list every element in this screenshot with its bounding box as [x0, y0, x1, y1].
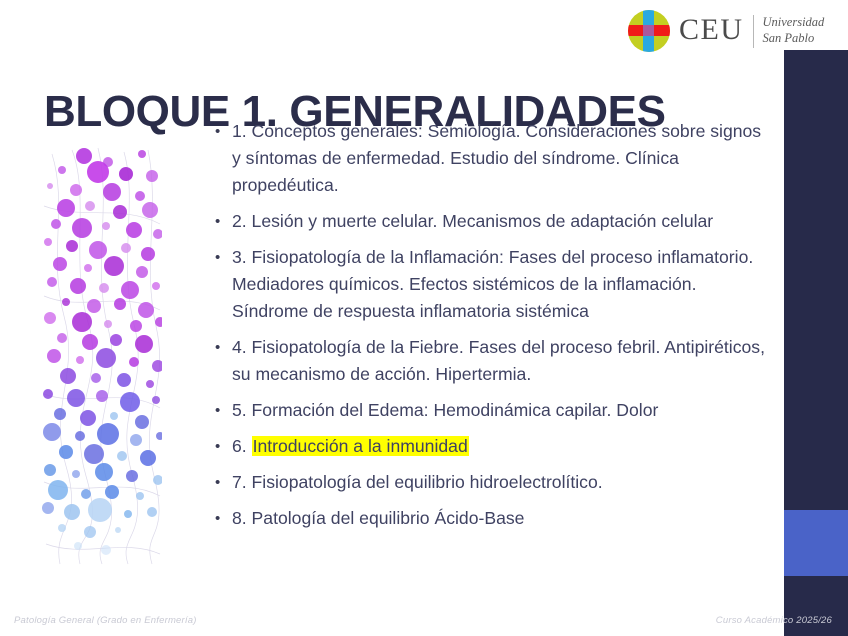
- bullet-point-icon: •: [210, 397, 232, 424]
- list-item: • 8. Patología del equilibrio Ácido-Base: [210, 505, 766, 532]
- right-sidebar-accent-block: [784, 510, 848, 576]
- bullet-point-icon: •: [210, 244, 232, 271]
- logo-subtext-line-2: San Pablo: [763, 31, 825, 47]
- bullet-point-icon: •: [210, 505, 232, 532]
- list-item: • 4. Fisiopatología de la Fiebre. Fases …: [210, 334, 766, 388]
- list-item: • 3. Fisiopatología de la Inflamación: F…: [210, 244, 766, 325]
- list-item: • 7. Fisiopatología del equilibrio hidro…: [210, 469, 766, 496]
- bullet-point-icon: •: [210, 433, 232, 460]
- list-item-text: 4. Fisiopatología de la Fiebre. Fases de…: [232, 334, 766, 388]
- list-item: • 2. Lesión y muerte celular. Mecanismos…: [210, 208, 766, 235]
- logo-divider: [753, 15, 754, 48]
- footer-academic-year: Curso Académico 2025/26: [716, 615, 832, 626]
- list-item: • 5. Formación del Edema: Hemodinámica c…: [210, 397, 766, 424]
- agenda-bullet-list: • 1. Conceptos generales: Semiología. Co…: [210, 118, 766, 541]
- highlighted-text: Introducción a la inmunidad: [252, 436, 469, 456]
- list-item-text: 7. Fisiopatología del equilibrio hidroel…: [232, 469, 766, 496]
- list-item-text: 6. Introducción a la inmunidad: [232, 433, 766, 460]
- list-item-highlighted: • 6. Introducción a la inmunidad: [210, 433, 766, 460]
- list-item-text: 3. Fisiopatología de la Inflamación: Fas…: [232, 244, 766, 325]
- bullet-point-icon: •: [210, 208, 232, 235]
- logo-wordmark: CEU: [679, 15, 744, 47]
- footer-course-name: Patología General (Grado en Enfermería): [14, 615, 197, 626]
- list-item-text: 1. Conceptos generales: Semiología. Cons…: [232, 118, 766, 199]
- bullet-point-icon: •: [210, 469, 232, 496]
- logo-subtext: Universidad San Pablo: [763, 15, 825, 46]
- logo-center-square: [643, 25, 654, 36]
- list-item-text: 5. Formación del Edema: Hemodinámica cap…: [232, 397, 766, 424]
- list-item-text: 2. Lesión y muerte celular. Mecanismos d…: [232, 208, 766, 235]
- abstract-molecule-dots-graphic: [42, 146, 162, 566]
- list-item-number: 6.: [232, 436, 252, 456]
- ceu-cross-circle-icon: [628, 10, 670, 52]
- ceu-logo: CEU Universidad San Pablo: [628, 8, 824, 54]
- list-item-text: 8. Patología del equilibrio Ácido-Base: [232, 505, 766, 532]
- bullet-point-icon: •: [210, 334, 232, 361]
- bullet-point-icon: •: [210, 118, 232, 145]
- logo-subtext-line-1: Universidad: [763, 15, 825, 31]
- list-item: • 1. Conceptos generales: Semiología. Co…: [210, 118, 766, 199]
